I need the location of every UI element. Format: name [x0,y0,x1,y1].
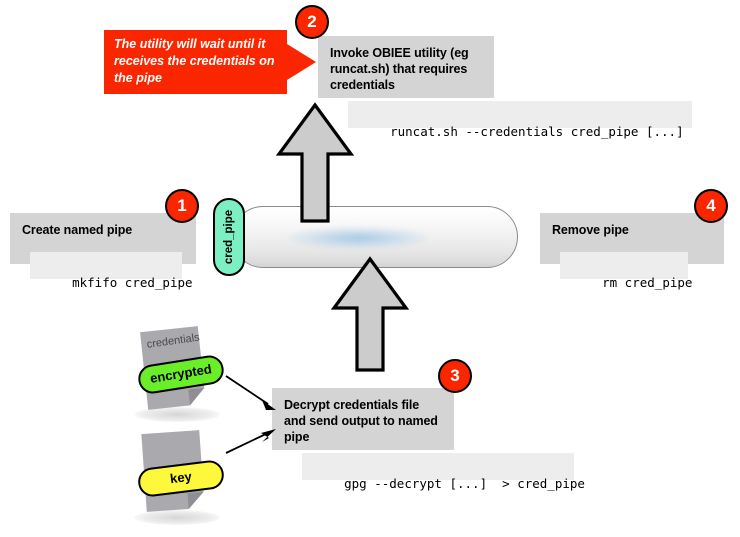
step-3-title: Decrypt credentials file and send output… [284,398,438,444]
pipe-data-glow [288,227,428,249]
arrow-credentials-to-decrypt [224,374,280,414]
step-2-title-box: Invoke OBIEE utility (eg runcat.sh) that… [318,36,494,98]
key-document: key [140,428,214,520]
step-2-badge: 2 [295,5,329,39]
step-1-badge: 1 [165,189,199,223]
credentials-document: credentials encrypted [140,325,214,417]
step-4-title: Remove pipe [552,223,629,237]
step-2-command: runcat.sh --credentials cred_pipe [...] [390,124,684,139]
step-3-title-box: Decrypt credentials file and send output… [272,388,454,450]
diagram-canvas: The utility will wait until it receives … [0,0,740,537]
step-2-command-box: runcat.sh --credentials cred_pipe [...] [348,101,692,128]
callout-note: The utility will wait until it receives … [104,30,316,94]
encrypted-tag-label: encrypted [149,361,213,386]
pipe-label-capsule: cred_pipe [213,198,245,276]
step-4-badge: 4 [694,189,728,223]
step-1-command: mkfifo cred_pipe [72,275,192,290]
arrow-up-to-utility [276,102,354,224]
step-4-command-box: rm cred_pipe [560,252,688,279]
arrow-key-to-decrypt [224,425,280,457]
callout-tail-icon [287,44,316,80]
step-3-command-box: gpg --decrypt [...] > cred_pipe [302,453,574,480]
step-1-title: Create named pipe [22,223,132,237]
step-2-title: Invoke OBIEE utility (eg runcat.sh) that… [330,46,469,92]
pipe-label-text: cred_pipe [223,210,235,264]
step-4-command: rm cred_pipe [602,275,692,290]
step-1-command-box: mkfifo cred_pipe [30,252,182,279]
step-3-command: gpg --decrypt [...] > cred_pipe [344,476,585,491]
step-3-badge: 3 [438,359,472,393]
key-tag-label: key [169,469,192,487]
arrow-up-to-pipe [331,256,409,372]
callout-text: The utility will wait until it receives … [114,36,286,87]
